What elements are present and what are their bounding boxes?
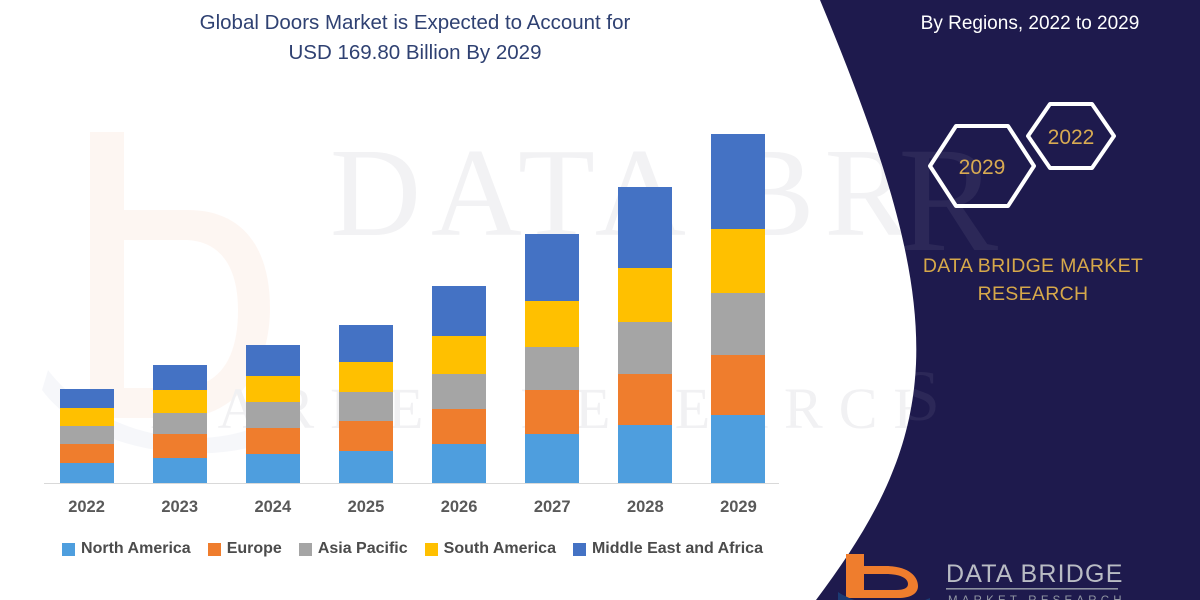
bar-chart-plot-area bbox=[40, 100, 785, 484]
hexagon-2029: 2029 bbox=[930, 126, 1034, 206]
bar-segment bbox=[525, 347, 579, 390]
legend-item[interactable]: Europe bbox=[208, 540, 282, 558]
year-hexagons: 2022 2029 bbox=[920, 96, 1120, 226]
bar-segment bbox=[711, 134, 765, 229]
panel-brand-text: DATA BRIDGE MARKET RESEARCH bbox=[888, 252, 1178, 309]
bar-segment bbox=[339, 421, 393, 451]
bar-segment bbox=[525, 390, 579, 434]
bar-segment bbox=[339, 392, 393, 421]
bar-segment bbox=[60, 389, 114, 408]
logo-mark-icon bbox=[838, 554, 930, 600]
bar-segment bbox=[246, 454, 300, 484]
x-axis-tick-label: 2022 bbox=[60, 498, 114, 517]
legend-swatch-icon bbox=[425, 543, 438, 556]
bar-segment bbox=[432, 286, 486, 336]
bar-segment bbox=[60, 444, 114, 463]
x-axis-tick-label: 2023 bbox=[153, 498, 207, 517]
bar-segment bbox=[153, 434, 207, 458]
bar-segment bbox=[153, 413, 207, 434]
bar-segment bbox=[618, 268, 672, 322]
bar-column bbox=[60, 389, 114, 484]
legend-swatch-icon bbox=[299, 543, 312, 556]
bar-segment bbox=[246, 345, 300, 376]
chart-title-line-1: Global Doors Market is Expected to Accou… bbox=[110, 8, 720, 38]
chart-legend: North AmericaEuropeAsia PacificSouth Ame… bbox=[40, 540, 785, 558]
bar-segment bbox=[60, 408, 114, 427]
bar-segment bbox=[525, 301, 579, 347]
bar-column bbox=[246, 345, 300, 484]
panel-brand-line-2: RESEARCH bbox=[888, 280, 1178, 308]
bar-segment bbox=[711, 293, 765, 354]
hexagon-2029-label: 2029 bbox=[959, 156, 1006, 179]
legend-label: North America bbox=[81, 540, 191, 558]
bar-column bbox=[339, 325, 393, 484]
bar-segment bbox=[432, 409, 486, 444]
bar-column bbox=[432, 286, 486, 484]
x-axis-tick-label: 2024 bbox=[246, 498, 300, 517]
infographic-canvas: DATA BRIDGE MARKET RESEARCH Global Doors… bbox=[0, 0, 1200, 600]
bar-segment bbox=[711, 355, 765, 415]
bar-segment bbox=[711, 415, 765, 484]
bar-segment bbox=[618, 425, 672, 484]
bar-segment bbox=[432, 374, 486, 409]
bar-segment bbox=[339, 362, 393, 392]
bar-segment bbox=[618, 322, 672, 373]
bar-segment bbox=[432, 444, 486, 484]
bar-segment bbox=[60, 426, 114, 444]
chart-title: Global Doors Market is Expected to Accou… bbox=[110, 8, 720, 67]
x-axis-tick-label: 2029 bbox=[711, 498, 765, 517]
bar-segment bbox=[246, 402, 300, 427]
hexagon-2022-label: 2022 bbox=[1048, 126, 1095, 149]
bar-segment bbox=[246, 376, 300, 402]
panel-brand-line-1: DATA BRIDGE MARKET bbox=[888, 252, 1178, 280]
legend-label: Europe bbox=[227, 540, 282, 558]
bar-column bbox=[711, 134, 765, 484]
bar-segment bbox=[618, 374, 672, 425]
company-logo: DATA BRIDGE MARKET RESEARCH bbox=[838, 552, 1178, 600]
legend-label: South America bbox=[444, 540, 556, 558]
bar-segment bbox=[525, 234, 579, 300]
x-axis-tick-label: 2028 bbox=[618, 498, 672, 517]
bar-column bbox=[525, 234, 579, 484]
bar-segment bbox=[432, 336, 486, 374]
bar-segment bbox=[711, 229, 765, 293]
bar-segment bbox=[153, 458, 207, 484]
panel-subtitle-text: By Regions, 2022 to 2029 bbox=[880, 11, 1180, 38]
x-axis-tick-label: 2025 bbox=[339, 498, 393, 517]
svg-text:RES: RES bbox=[780, 356, 954, 436]
legend-label: Asia Pacific bbox=[318, 540, 408, 558]
legend-label: Middle East and Africa bbox=[592, 540, 763, 558]
legend-item[interactable]: Asia Pacific bbox=[299, 540, 408, 558]
legend-swatch-icon bbox=[208, 543, 221, 556]
bar-column bbox=[153, 365, 207, 484]
hexagon-2022: 2022 bbox=[1028, 104, 1114, 168]
bar-segment bbox=[60, 463, 114, 484]
logo-sub-text: MARKET RESEARCH bbox=[948, 595, 1126, 600]
bar-segment bbox=[525, 434, 579, 484]
bar-segment bbox=[153, 365, 207, 390]
bar-column bbox=[618, 187, 672, 484]
x-axis-tick-label: 2027 bbox=[525, 498, 579, 517]
logo-main-text: DATA BRIDGE bbox=[946, 560, 1124, 588]
legend-item[interactable]: Middle East and Africa bbox=[573, 540, 763, 558]
x-axis-line bbox=[44, 483, 779, 484]
legend-item[interactable]: South America bbox=[425, 540, 556, 558]
panel-subtitle: By Regions, 2022 to 2029 bbox=[880, 0, 1180, 38]
bar-segment bbox=[153, 390, 207, 413]
legend-item[interactable]: North America bbox=[62, 540, 191, 558]
x-axis-tick-label: 2026 bbox=[432, 498, 486, 517]
x-axis-tick-labels: 20222023202420252026202720282029 bbox=[40, 498, 785, 517]
legend-swatch-icon bbox=[62, 543, 75, 556]
bar-segment bbox=[339, 451, 393, 484]
chart-title-line-2: USD 169.80 Billion By 2029 bbox=[110, 38, 720, 68]
logo-divider bbox=[946, 588, 1118, 590]
bar-segment bbox=[618, 187, 672, 269]
bar-segment bbox=[246, 428, 300, 454]
bar-segment bbox=[339, 325, 393, 363]
legend-swatch-icon bbox=[573, 543, 586, 556]
